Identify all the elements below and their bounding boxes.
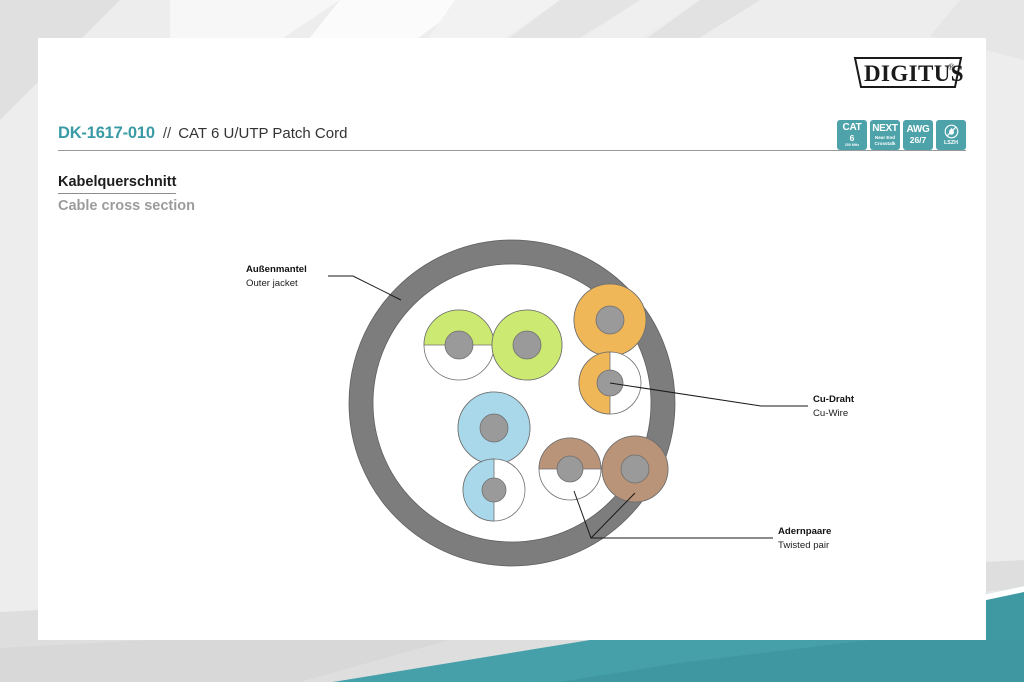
callout-outer-jacket-label-en: Outer jacket bbox=[246, 278, 298, 289]
no-flame-icon bbox=[944, 124, 959, 139]
wire-blue-striped-conductor bbox=[482, 478, 506, 502]
wire-pairs bbox=[424, 284, 668, 521]
cat6-badge: CAT 6 250 MHz bbox=[837, 120, 867, 150]
article-header: DK-1617-010 // CAT 6 U/UTP Patch Cord bbox=[58, 124, 966, 151]
certification-badges: CAT 6 250 MHz NEXT Near End Crosstalk AW… bbox=[837, 120, 966, 150]
lszh-badge-label: LSZH bbox=[944, 141, 958, 146]
next-badge-line1: NEXT bbox=[872, 124, 897, 134]
wire-green-striped bbox=[424, 310, 494, 380]
awg-badge-line1: AWG bbox=[907, 125, 930, 135]
wire-brown-solid-conductor bbox=[621, 455, 649, 483]
wire-brown-solid bbox=[602, 436, 668, 502]
wire-green-striped-conductor bbox=[445, 331, 473, 359]
cable-cross-section-diagram: AußenmantelOuter jacketCu-DrahtCu-WireAd… bbox=[38, 188, 986, 618]
callout-cu-wire-label-en: Cu-Wire bbox=[813, 408, 848, 419]
callout-cu-wire: Cu-DrahtCu-Wire bbox=[610, 383, 855, 419]
content-card: DIGITUS ® DK-1617-010 // CAT 6 U/UTP Pat… bbox=[38, 38, 986, 640]
lszh-badge: LSZH bbox=[936, 120, 966, 150]
callout-cu-wire-label-de: Cu-Draht bbox=[813, 394, 855, 405]
wire-brown-striped bbox=[539, 438, 601, 500]
wire-green-solid-conductor bbox=[513, 331, 541, 359]
awg-badge-line2: 26/7 bbox=[910, 136, 927, 145]
wire-blue-striped bbox=[463, 459, 525, 521]
wire-blue-solid bbox=[458, 392, 530, 464]
cat6-badge-line1: CAT bbox=[843, 123, 862, 133]
article-name: CAT 6 U/UTP Patch Cord bbox=[178, 125, 347, 142]
next-badge-sub: Near End Crosstalk bbox=[875, 135, 896, 146]
article-separator: // bbox=[163, 125, 171, 142]
callout-outer-jacket-label-de: Außenmantel bbox=[246, 264, 307, 275]
wire-blue-solid-conductor bbox=[480, 414, 508, 442]
awg-badge: AWG 26/7 bbox=[903, 120, 933, 150]
wire-orange-solid bbox=[574, 284, 646, 356]
wire-orange-solid-conductor bbox=[596, 306, 624, 334]
callout-twisted-pair-label-de: Adernpaare bbox=[778, 526, 831, 537]
digitus-logo: DIGITUS ® bbox=[852, 54, 964, 92]
wire-green-solid bbox=[492, 310, 562, 380]
callout-twisted-pair-label-en: Twisted pair bbox=[778, 540, 830, 551]
next-badge: NEXT Near End Crosstalk bbox=[870, 120, 900, 150]
cat6-badge-line3: 250 MHz bbox=[845, 144, 859, 147]
logo-registered-mark: ® bbox=[948, 62, 955, 72]
cat6-badge-line2: 6 bbox=[850, 134, 855, 143]
callout-outer-jacket: AußenmantelOuter jacket bbox=[246, 264, 401, 300]
article-code: DK-1617-010 bbox=[58, 124, 155, 143]
diagram-callouts: AußenmantelOuter jacketCu-DrahtCu-WireAd… bbox=[246, 264, 855, 551]
wire-brown-striped-conductor bbox=[557, 456, 583, 482]
